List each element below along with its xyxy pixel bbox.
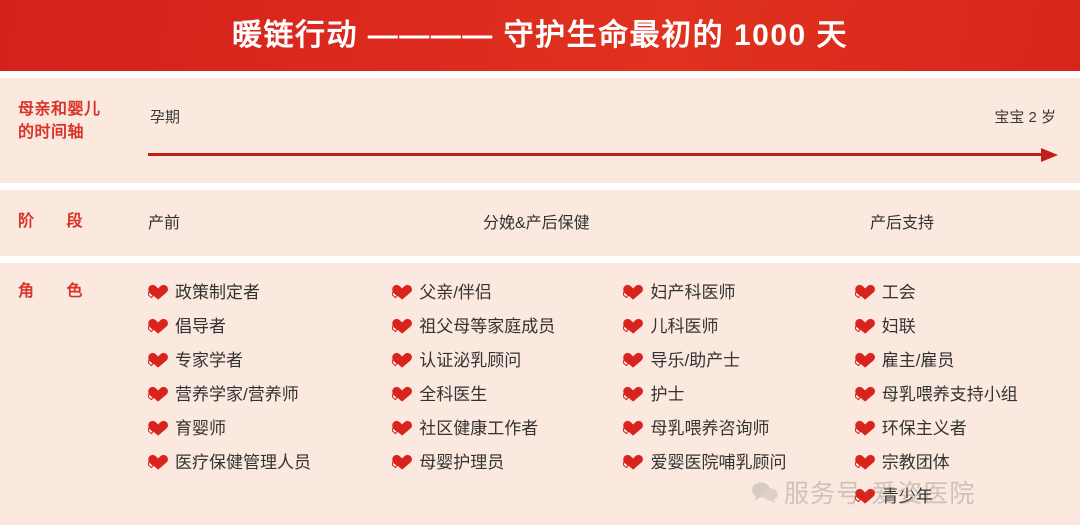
role-item: 父亲/伴侣: [392, 275, 623, 309]
heart-in-hands-icon: [392, 419, 412, 437]
role-item: 工会: [855, 275, 1074, 309]
stage-item-postpartum-support: 产后支持: [870, 209, 934, 233]
band-separator: [0, 183, 1080, 190]
role-item-label: 儿科医师: [650, 318, 718, 335]
role-item: 倡导者: [148, 309, 392, 343]
role-item-label: 父亲/伴侣: [419, 284, 492, 301]
heart-in-hands-icon: [392, 351, 412, 369]
heart-in-hands-icon: [148, 283, 168, 301]
heart-in-hands-icon: [392, 385, 412, 403]
role-item-label: 营养学家/营养师: [175, 386, 299, 403]
role-item: 专家学者: [148, 343, 392, 377]
heart-in-hands-icon: [392, 453, 412, 471]
role-item-label: 护士: [650, 386, 684, 403]
page-title: 暖链行动 ———— 守护生命最初的 1000 天: [232, 21, 848, 51]
role-item: 爱婴医院哺乳顾问: [623, 445, 854, 479]
roles-column-social-support: 工会妇联雇主/雇员母乳喂养支持小组环保主义者宗教团体青少年: [855, 275, 1074, 525]
role-item: 儿科医师: [623, 309, 854, 343]
timeline-arrow-line: [148, 153, 1042, 156]
role-item: 社区健康工作者: [392, 411, 623, 445]
role-item-label: 育婴师: [175, 420, 226, 437]
heart-in-hands-icon: [623, 283, 643, 301]
stage-item-delivery-postpartum: 分娩&产后保健: [483, 209, 590, 233]
heart-in-hands-icon: [855, 419, 875, 437]
timeline-arrow: [148, 148, 1058, 162]
band-separator: [0, 71, 1080, 78]
heart-in-hands-icon: [623, 419, 643, 437]
role-item: 妇产科医师: [623, 275, 854, 309]
role-item-label: 环保主义者: [882, 420, 967, 437]
role-item-label: 母乳喂养支持小组: [882, 386, 1018, 403]
role-item: 全科医生: [392, 377, 623, 411]
heart-in-hands-icon: [392, 283, 412, 301]
heart-in-hands-icon: [623, 317, 643, 335]
heart-in-hands-icon: [855, 283, 875, 301]
roles-columns: 政策制定者倡导者专家学者营养学家/营养师育婴师医疗保健管理人员 父亲/伴侣祖父母…: [148, 275, 1074, 525]
roles-column-clinical: 妇产科医师儿科医师导乐/助产士护士母乳喂养咨询师爱婴医院哺乳顾问: [623, 275, 854, 525]
header-banner: 暖链行动 ———— 守护生命最初的 1000 天: [0, 0, 1080, 71]
role-item: 护士: [623, 377, 854, 411]
heart-in-hands-icon: [855, 351, 875, 369]
role-item: 母婴护理员: [392, 445, 623, 479]
heart-in-hands-icon: [148, 453, 168, 471]
role-item-label: 导乐/助产士: [650, 352, 740, 369]
role-item: 宗教团体: [855, 445, 1074, 479]
role-item: 认证泌乳顾问: [392, 343, 623, 377]
role-item-label: 工会: [882, 284, 916, 301]
heart-in-hands-icon: [392, 317, 412, 335]
heart-in-hands-icon: [855, 453, 875, 471]
role-item-label: 雇主/雇员: [882, 352, 955, 369]
heart-in-hands-icon: [623, 385, 643, 403]
role-item: 医疗保健管理人员: [148, 445, 392, 479]
role-item-label: 医疗保健管理人员: [175, 454, 311, 471]
stage-list: 产前 分娩&产后保健 产后支持: [148, 209, 1080, 237]
role-item: 政策制定者: [148, 275, 392, 309]
stage-row-label: 阶 段: [18, 210, 96, 233]
role-item-label: 全科医生: [419, 386, 487, 403]
role-item: 雇主/雇员: [855, 343, 1074, 377]
role-item-label: 社区健康工作者: [419, 420, 538, 437]
heart-in-hands-icon: [148, 419, 168, 437]
heart-in-hands-icon: [855, 487, 875, 505]
role-item-label: 政策制定者: [175, 284, 260, 301]
stage-section: 阶 段 产前 分娩&产后保健 产后支持: [0, 190, 1080, 256]
heart-in-hands-icon: [148, 351, 168, 369]
role-item: 青少年: [855, 479, 1074, 513]
timeline-end-caption: 宝宝 2 岁: [994, 106, 1056, 127]
role-item: 母乳喂养咨询师: [623, 411, 854, 445]
role-item-label: 宗教团体: [882, 454, 950, 471]
role-item-label: 专家学者: [175, 352, 243, 369]
timeline-track: 孕期 宝宝 2 岁: [148, 78, 1058, 183]
roles-section: 角 色 政策制定者倡导者专家学者营养学家/营养师育婴师医疗保健管理人员 父亲/伴…: [0, 263, 1080, 525]
roles-row-label: 角 色: [18, 280, 96, 303]
role-item-label: 青少年: [882, 488, 933, 505]
heart-in-hands-icon: [148, 317, 168, 335]
role-item-label: 爱婴医院哺乳顾问: [650, 454, 786, 471]
role-item-label: 母乳喂养咨询师: [650, 420, 769, 437]
role-item-label: 妇联: [882, 318, 916, 335]
timeline-section: 母亲和婴儿 的时间轴 孕期 宝宝 2 岁: [0, 78, 1080, 183]
role-item: 妇联: [855, 309, 1074, 343]
timeline-row-label: 母亲和婴儿 的时间轴: [18, 98, 101, 144]
role-item-label: 母婴护理员: [419, 454, 504, 471]
heart-in-hands-icon: [623, 453, 643, 471]
role-item: 育婴师: [148, 411, 392, 445]
heart-in-hands-icon: [148, 385, 168, 403]
role-item: 母乳喂养支持小组: [855, 377, 1074, 411]
timeline-arrow-head-icon: [1041, 148, 1058, 162]
band-separator: [0, 256, 1080, 263]
role-item-label: 妇产科医师: [650, 284, 735, 301]
timeline-start-caption: 孕期: [150, 106, 180, 127]
role-item-label: 倡导者: [175, 318, 226, 335]
heart-in-hands-icon: [855, 385, 875, 403]
role-item-label: 祖父母等家庭成员: [419, 318, 555, 335]
heart-in-hands-icon: [623, 351, 643, 369]
roles-column-family-community: 父亲/伴侣祖父母等家庭成员认证泌乳顾问全科医生社区健康工作者母婴护理员: [392, 275, 623, 525]
heart-in-hands-icon: [855, 317, 875, 335]
roles-column-prenatal: 政策制定者倡导者专家学者营养学家/营养师育婴师医疗保健管理人员: [148, 275, 392, 525]
stage-item-prenatal: 产前: [148, 209, 180, 233]
role-item-label: 认证泌乳顾问: [419, 352, 521, 369]
role-item: 环保主义者: [855, 411, 1074, 445]
role-item: 营养学家/营养师: [148, 377, 392, 411]
role-item: 导乐/助产士: [623, 343, 854, 377]
role-item: 祖父母等家庭成员: [392, 309, 623, 343]
